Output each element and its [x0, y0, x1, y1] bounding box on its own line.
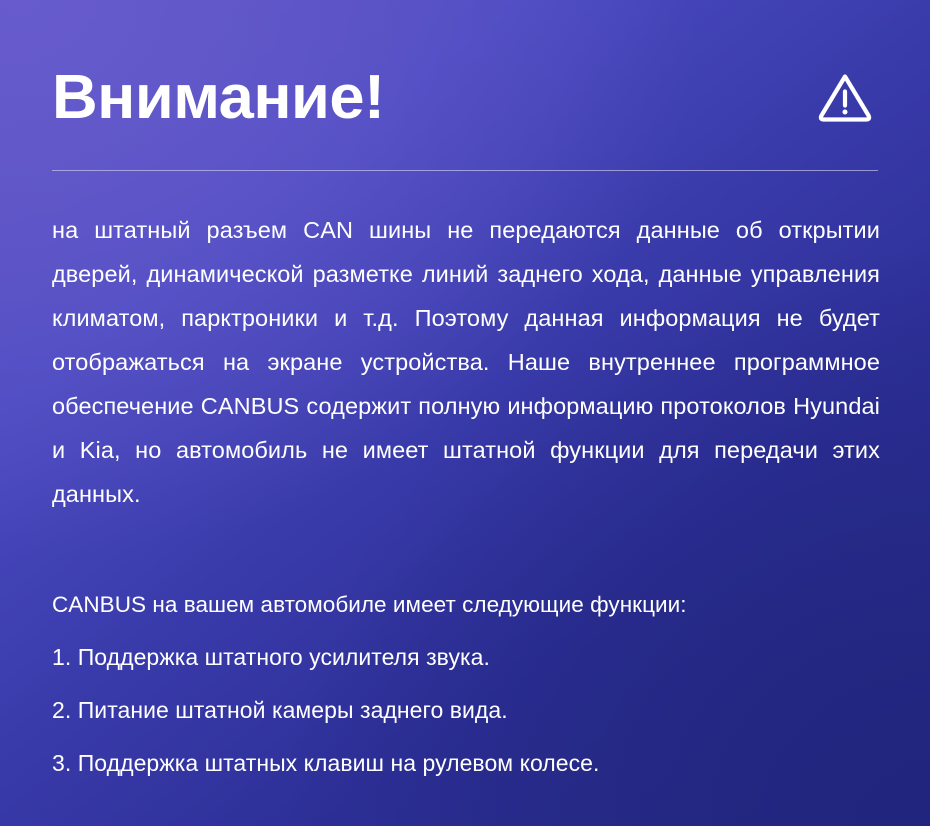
list-item: 1. Поддержка штатного усилителя звука. [52, 642, 892, 672]
banner-header: Внимание! [52, 46, 878, 150]
features-intro-text: CANBUS на вашем автомобиле имеет следующ… [52, 590, 892, 620]
warning-triangle-icon [814, 67, 876, 129]
list-item: 2. Питание штатной камеры заднего вида. [52, 695, 892, 725]
header-divider [52, 170, 878, 171]
page-title: Внимание! [52, 67, 385, 129]
intro-paragraph: на штатный разъем CAN шины не передаются… [52, 208, 880, 516]
features-list: 1. Поддержка штатного усилителя звука. 2… [52, 642, 892, 778]
warning-banner: Внимание! на штатный разъем CAN шины не … [0, 0, 930, 826]
features-block: CANBUS на вашем автомобиле имеет следующ… [52, 590, 892, 778]
list-item: 3. Поддержка штатных клавиш на рулевом к… [52, 748, 892, 778]
